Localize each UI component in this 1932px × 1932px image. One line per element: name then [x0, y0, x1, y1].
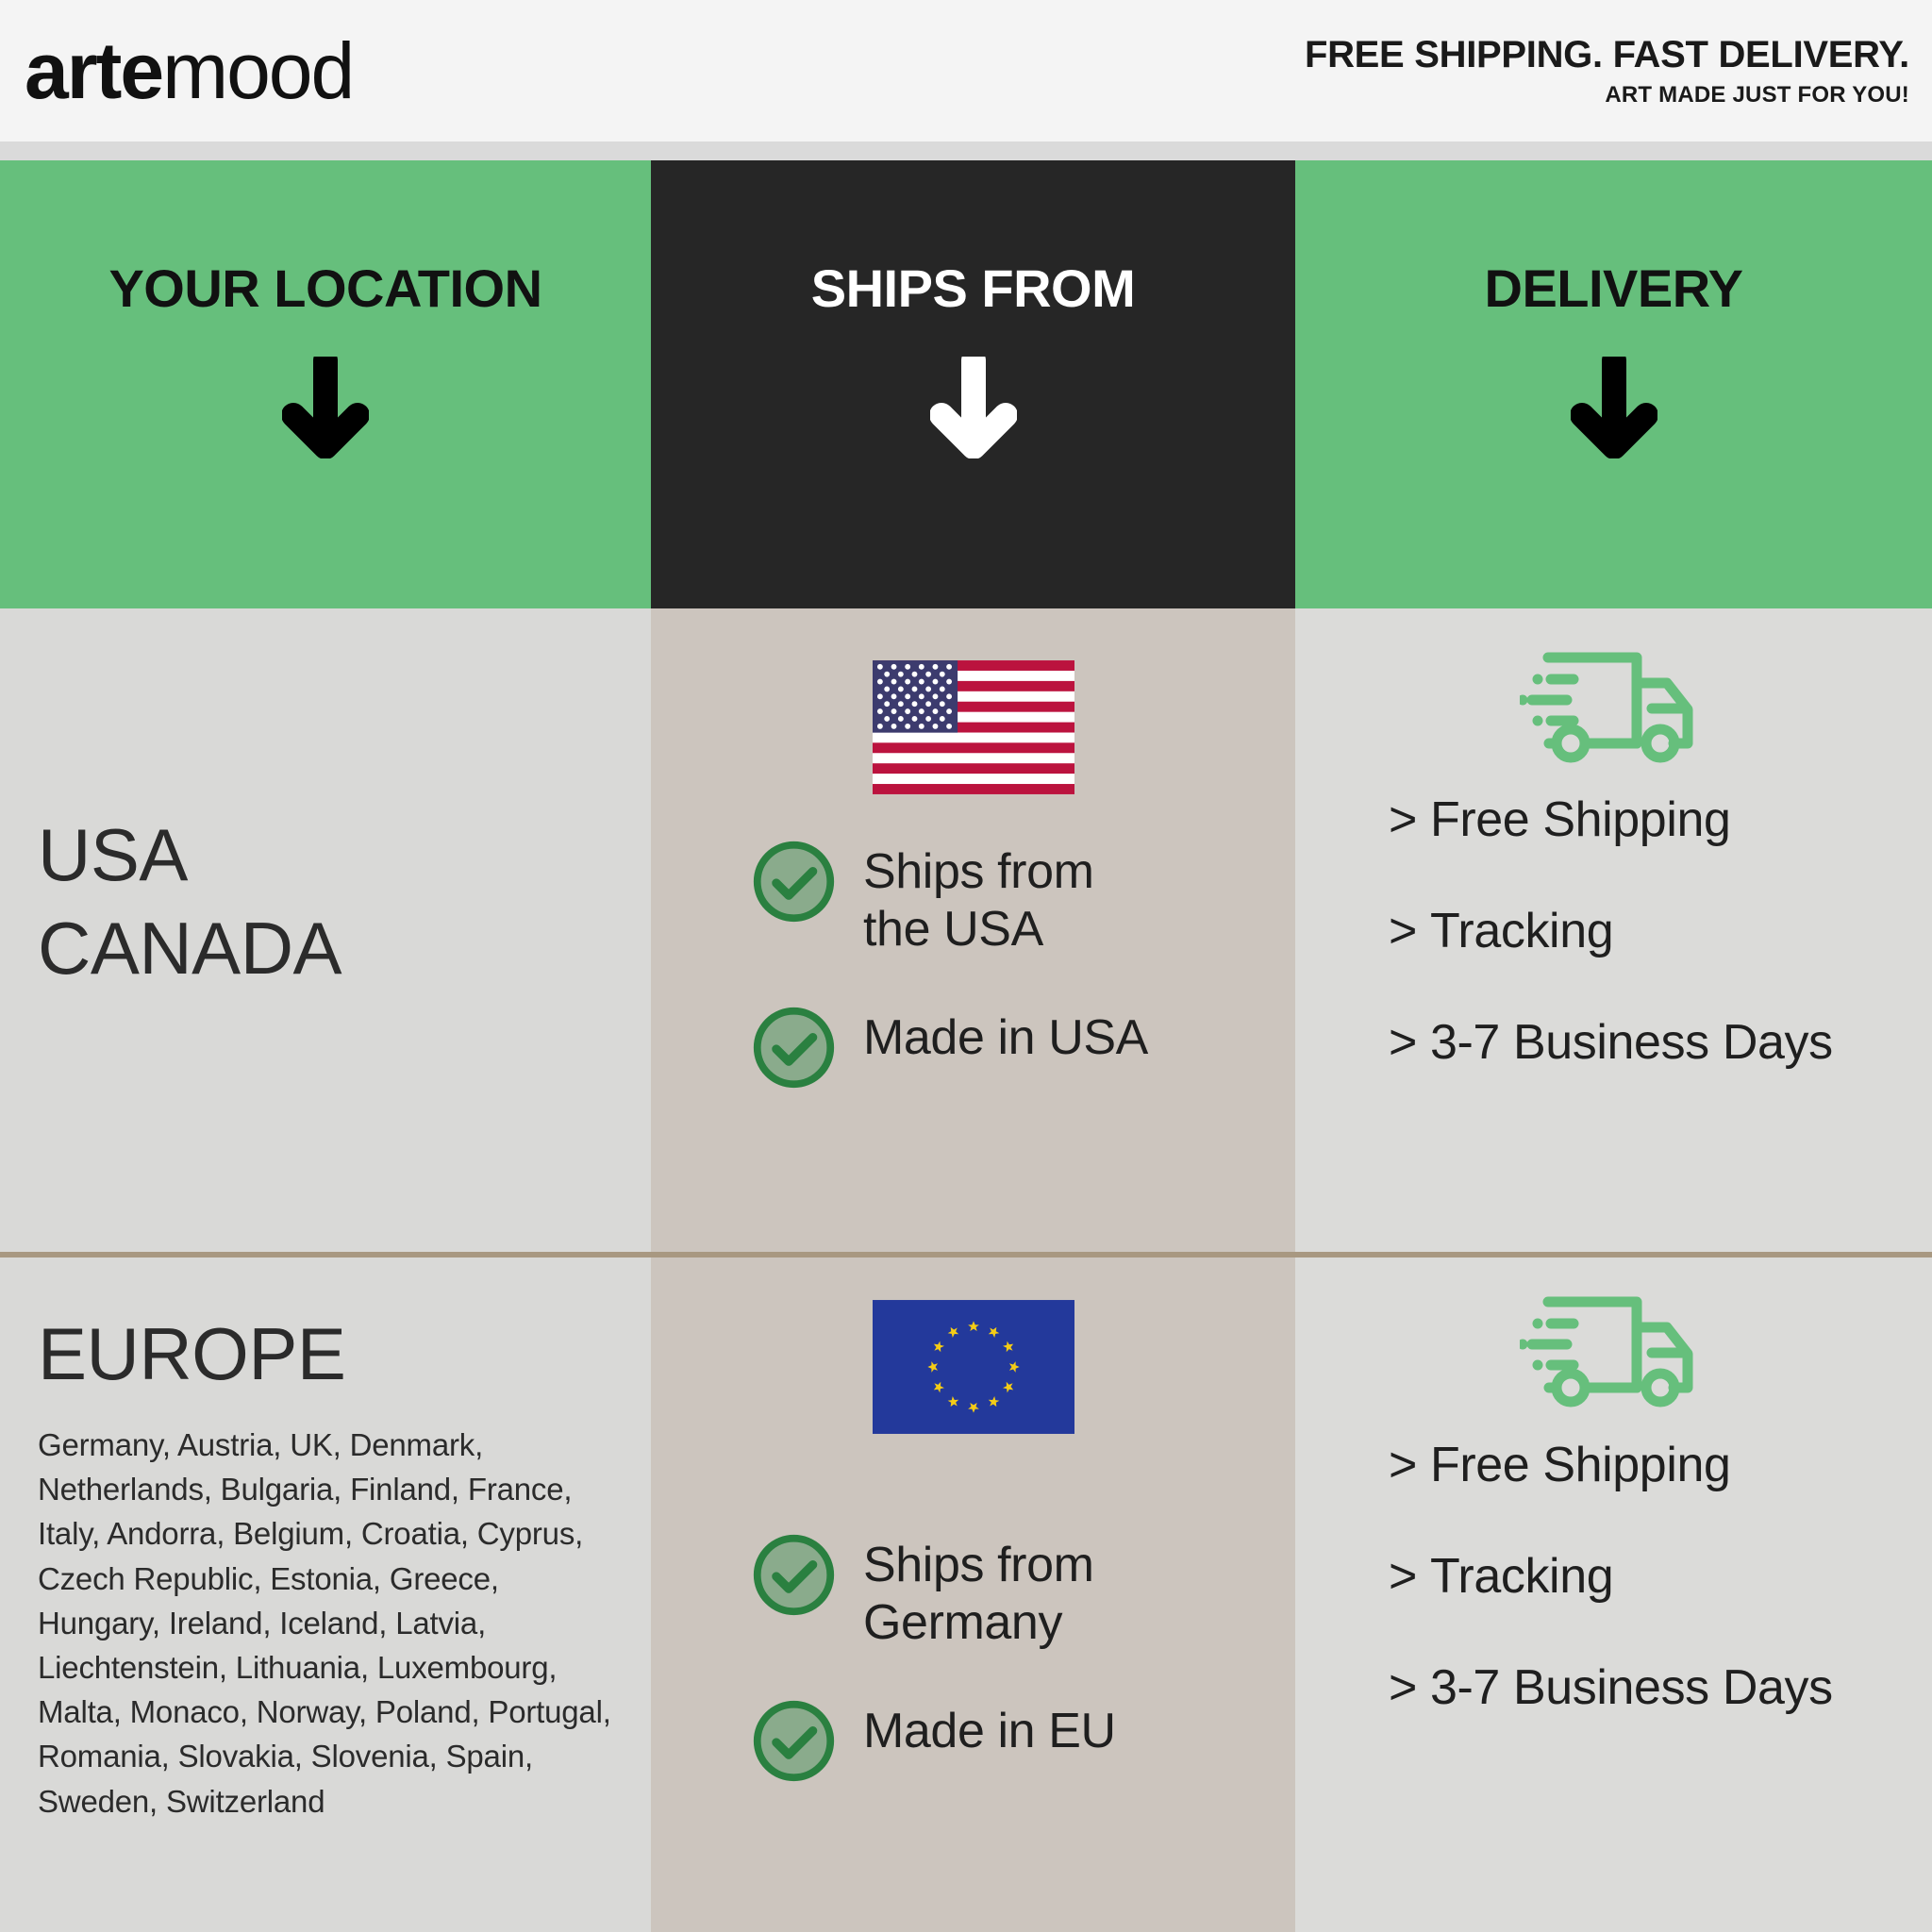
list-item: >Tracking [1389, 903, 1913, 959]
ships-from-check-list-usa: Ships from the USA Made in USA [750, 838, 1267, 1091]
chevron-right-icon: > [1389, 1015, 1417, 1070]
delivery-feature-label: Tracking [1430, 1549, 1613, 1604]
delivery-feature-list-usa: >Free Shipping >Tracking >3-7 Business D… [1389, 791, 1913, 1071]
location-cell-usa-canada: USA CANADA [0, 608, 651, 1252]
delivery-truck-icon [1520, 641, 1708, 764]
list-item: >Free Shipping [1389, 791, 1913, 848]
location-name-europe: EUROPE [38, 1314, 345, 1395]
check-circle-icon [750, 838, 838, 925]
arrow-down-icon [282, 357, 369, 463]
arrow-down-icon [1571, 357, 1657, 463]
delivery-cell-usa: >Free Shipping >Tracking >3-7 Business D… [1295, 608, 1932, 1252]
column-title-delivery: DELIVERY [1485, 258, 1743, 319]
comparison-grid: YOUR LOCATION USA CANADA [0, 160, 1932, 1932]
column-delivery: DELIVERY [1295, 160, 1932, 1932]
location-name-usa-canada: USA CANADA [38, 808, 341, 995]
tagline-primary: FREE SHIPPING. FAST DELIVERY. [1305, 35, 1909, 75]
list-item: Ships from the USA [750, 838, 1267, 958]
usa-flag-icon [873, 660, 1074, 794]
header-tagline: FREE SHIPPING. FAST DELIVERY. ART MADE J… [1305, 35, 1909, 107]
location-cell-europe: EUROPE Germany, Austria, UK, Denmark, Ne… [0, 1257, 651, 1932]
location-line-1: USA [38, 808, 341, 902]
delivery-feature-list-europe: >Free Shipping >Tracking >3-7 Business D… [1389, 1437, 1913, 1716]
chevron-right-icon: > [1389, 1549, 1417, 1604]
arrow-down-icon [930, 357, 1017, 463]
check-circle-icon [750, 1004, 838, 1091]
column-title-your-location: YOUR LOCATION [108, 258, 541, 319]
delivery-feature-label: 3-7 Business Days [1430, 1660, 1833, 1715]
header-divider [0, 142, 1932, 160]
chevron-right-icon: > [1389, 792, 1417, 847]
check-label: Made in USA [863, 1004, 1148, 1067]
check-label: Made in EU [863, 1697, 1116, 1760]
logo-bold-part: arte [25, 26, 162, 115]
delivery-feature-label: Free Shipping [1430, 1438, 1731, 1492]
list-item: >3-7 Business Days [1389, 1659, 1913, 1716]
delivery-feature-label: Tracking [1430, 904, 1613, 958]
list-item: >Tracking [1389, 1548, 1913, 1605]
chevron-right-icon: > [1389, 904, 1417, 958]
location-line-2: CANADA [38, 902, 341, 995]
column-your-location: YOUR LOCATION USA CANADA [0, 160, 651, 1932]
tagline-secondary: ART MADE JUST FOR YOU! [1305, 83, 1909, 107]
brand-logo: artemood [25, 31, 353, 110]
header-cell-your-location: YOUR LOCATION [0, 160, 651, 608]
check-label: Ships from Germany [863, 1531, 1094, 1652]
header-cell-delivery: DELIVERY [1295, 160, 1932, 608]
delivery-cell-europe: >Free Shipping >Tracking >3-7 Business D… [1295, 1257, 1932, 1932]
chevron-right-icon: > [1389, 1660, 1417, 1715]
list-item: Made in USA [750, 1004, 1267, 1091]
list-item: >Free Shipping [1389, 1437, 1913, 1493]
list-item: Ships from Germany [750, 1531, 1267, 1652]
ships-from-cell-europe: Ships from Germany Made in EU [651, 1257, 1295, 1932]
europe-country-list: Germany, Austria, UK, Denmark, Netherlan… [38, 1423, 628, 1824]
check-label: Ships from the USA [863, 838, 1094, 958]
delivery-truck-icon [1520, 1286, 1708, 1408]
logo-light-part: mood [162, 26, 353, 115]
eu-flag-icon [873, 1300, 1074, 1434]
ships-from-check-list-europe: Ships from Germany Made in EU [750, 1531, 1267, 1785]
column-ships-from: SHIPS FROM [651, 160, 1295, 1932]
column-title-ships-from: SHIPS FROM [811, 258, 1135, 319]
check-circle-icon [750, 1531, 838, 1619]
list-item: Made in EU [750, 1697, 1267, 1785]
delivery-feature-label: Free Shipping [1430, 792, 1731, 847]
list-item: >3-7 Business Days [1389, 1014, 1913, 1071]
header-cell-ships-from: SHIPS FROM [651, 160, 1295, 608]
row-divider [0, 1252, 1932, 1257]
chevron-right-icon: > [1389, 1438, 1417, 1492]
check-circle-icon [750, 1697, 838, 1785]
delivery-feature-label: 3-7 Business Days [1430, 1015, 1833, 1070]
ships-from-cell-usa: Ships from the USA Made in USA [651, 608, 1295, 1252]
page-header: artemood FREE SHIPPING. FAST DELIVERY. A… [0, 0, 1932, 142]
shipping-info-infographic: artemood FREE SHIPPING. FAST DELIVERY. A… [0, 0, 1932, 1932]
